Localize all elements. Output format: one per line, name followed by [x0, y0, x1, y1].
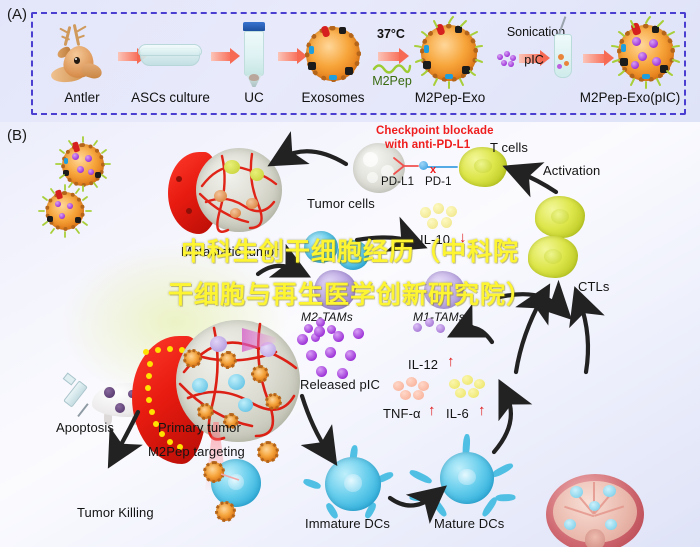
immature-dc-mid-1 [304, 231, 338, 263]
tumor-killing-label: Tumor Killing [77, 505, 154, 520]
arrow-culture-to-uc [211, 52, 231, 61]
panel-a-step-label-uc: UC [231, 90, 277, 105]
antler-deer-icon [48, 24, 114, 80]
tnf-alpha-up-arrow: ↑ [428, 402, 436, 419]
panel-a-step-label-m2pep-exo: M2Pep-Exo [404, 90, 496, 105]
metastatic-tumor-label: Metastatic tumor [181, 244, 279, 259]
m1-tam-cell-1 [424, 271, 464, 309]
m2-tam-cell-1 [314, 270, 356, 310]
il-10-label: IL-10 [420, 232, 450, 247]
ctl-cell-1 [535, 196, 585, 238]
sonication-vial-icon [552, 28, 574, 86]
il-6-label: IL-6 [446, 406, 469, 421]
metastatic-tumor-illustration [168, 146, 284, 242]
il-10-down-arrow: ↓ [459, 229, 467, 246]
panel-a-step-label-antler: Antler [42, 90, 122, 105]
ctl-cell-2 [528, 236, 578, 278]
m2pep-label: M2Pep [367, 74, 417, 88]
m2pep-exosome-particle [421, 25, 477, 81]
il-6-up-arrow: ↑ [478, 402, 486, 419]
plc-label-panel-a: pIC [521, 53, 547, 67]
figure-container: (A) Antler ASCs culture [0, 0, 700, 547]
activation-label: Activation [543, 163, 600, 178]
ultracentrifuge-tube-icon [242, 22, 266, 84]
panel-a-step-label-exosomes: Exosomes [296, 90, 370, 105]
primary-tumor-label: Primary tumor [158, 420, 241, 435]
targeting-exosome-3 [216, 502, 235, 521]
il-6-dot-cluster [449, 375, 489, 401]
ctls-label: CTLs [578, 279, 609, 294]
pd-1-label: PD-1 [425, 176, 452, 188]
panel-b: (B) [0, 122, 700, 547]
m2pep-targeting-label: M2Pep targeting [148, 444, 245, 459]
arrow-uc-to-exosomes [278, 52, 298, 61]
m2pep-squiggle-icon [372, 61, 412, 74]
checkpoint-blockade-label-line1: Checkpoint blockade [376, 125, 494, 137]
arrow-vial-to-final [583, 54, 605, 63]
panel-a: (A) Antler ASCs culture [0, 0, 700, 122]
m2pep-exosome-plc-particle [618, 25, 674, 81]
panel-b-label: (B) [7, 127, 27, 144]
targeting-exosome-1 [258, 442, 278, 462]
petri-dish-icon [140, 44, 200, 70]
syringe-icon [62, 375, 96, 421]
il-12-label: IL-12 [408, 357, 438, 372]
immature-dc-illustration [325, 457, 381, 511]
exosome-particle-injected-2 [46, 192, 84, 230]
immature-dc-mid-2 [337, 240, 369, 270]
pd-l1-label: PD-L1 [381, 176, 414, 188]
blockade-x-icon: x [430, 164, 436, 176]
plc-dots-under-m1 [413, 318, 453, 344]
tnf-alpha-dot-cluster [393, 377, 433, 403]
panel-a-label: (A) [7, 6, 27, 23]
tumor-cells-label: Tumor cells [307, 196, 375, 211]
released-plc-label: Released pIC [300, 377, 380, 392]
temperature-label: 37°C [371, 27, 411, 41]
tnf-alpha-label: TNF-α [383, 406, 421, 421]
panel-a-step-label-m2pep-exo-plc: M2Pep-Exo(pIC) [562, 90, 698, 105]
exosome-particle [306, 27, 360, 81]
t-cells-label: T cells [490, 140, 528, 155]
plc-dot-cluster-panel-a [497, 51, 519, 67]
panel-a-step-label-culture: ASCs culture [124, 90, 217, 105]
mature-dc-illustration [440, 452, 494, 504]
lymph-node-illustration [546, 474, 644, 547]
targeting-link-line [221, 470, 241, 484]
apoptosis-label: Apoptosis [56, 420, 114, 435]
arrow-antler-to-culture [118, 52, 138, 61]
pd-l1-receptor-icon [392, 155, 420, 177]
mature-dcs-label: Mature DCs [434, 516, 504, 531]
exosome-particle-injected-1 [62, 144, 104, 186]
il-10-dot-cluster [420, 203, 462, 231]
immature-dcs-label: Immature DCs [305, 516, 390, 531]
arrow-exosomes-to-m2pep [378, 52, 400, 61]
il-12-up-arrow: ↑ [447, 353, 455, 370]
released-plc-dot-cluster [297, 326, 371, 382]
checkpoint-blockade-label-line2: with anti-PD-L1 [385, 139, 470, 151]
